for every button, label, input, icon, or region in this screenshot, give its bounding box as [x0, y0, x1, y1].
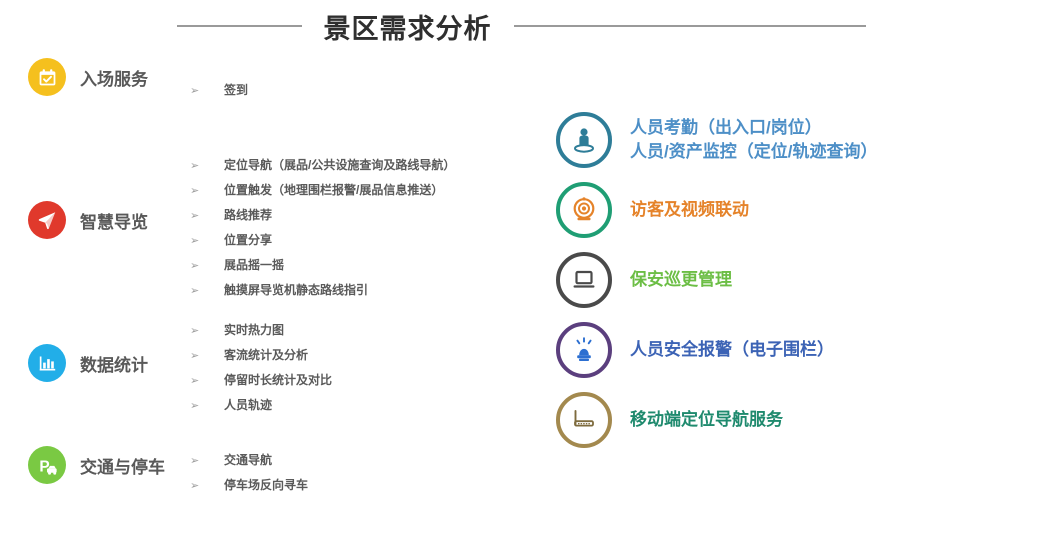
group-header[interactable]: 智慧导览: [28, 153, 190, 239]
group-traffic-parking: P 交通与停车 ➢ 交通导航 ➢ 停车场反向寻车: [28, 444, 538, 504]
page-title-row: 景区需求分析: [0, 8, 1042, 44]
group-data-statistics: 数据统计 ➢ 实时热力图 ➢ 客流统计及分析 ➢ 停留时长统计及对比 ➢ 人员轨…: [28, 318, 538, 422]
list-item-label: 触摸屏导览机静态路线指引: [224, 280, 368, 301]
list-item-label: 展品摇一摇: [224, 255, 284, 276]
feature-label: 保安巡更管理: [630, 268, 732, 292]
title-rule-left: [177, 25, 302, 27]
list-item-label: 实时热力图: [224, 320, 284, 341]
group-header[interactable]: P 交通与停车: [28, 444, 190, 484]
list-item[interactable]: ➢ 交通导航: [190, 450, 538, 472]
list-item[interactable]: ➢ 停留时长统计及对比: [190, 370, 538, 392]
feature-visitor-video[interactable]: 访客及视频联动: [556, 182, 1042, 238]
list-item[interactable]: ➢ 展品摇一摇: [190, 255, 538, 277]
group-items: ➢ 交通导航 ➢ 停车场反向寻车: [190, 444, 538, 500]
list-item[interactable]: ➢ 停车场反向寻车: [190, 475, 538, 497]
feature-label-line1: 移动端定位导航服务: [630, 410, 783, 429]
list-item[interactable]: ➢ 人员轨迹: [190, 395, 538, 417]
group-header[interactable]: 入场服务: [28, 58, 190, 96]
monitor-icon: [556, 252, 612, 308]
video-camera-icon: [556, 182, 612, 238]
group-label: 交通与停车: [80, 453, 165, 478]
list-item-label: 位置分享: [224, 230, 272, 251]
list-item[interactable]: ➢ 客流统计及分析: [190, 345, 538, 367]
group-items: ➢ 实时热力图 ➢ 客流统计及分析 ➢ 停留时长统计及对比 ➢ 人员轨迹: [190, 318, 538, 420]
page-title: 景区需求分析: [324, 7, 492, 46]
arrow-bullet-icon: ➢: [190, 231, 224, 252]
arrow-bullet-icon: ➢: [190, 451, 224, 472]
list-item-label: 交通导航: [224, 450, 272, 471]
feature-label-line2: 人员/资产监控（定位/轨迹查询）: [630, 140, 877, 164]
feature-label: 移动端定位导航服务: [630, 408, 783, 432]
feature-label: 人员考勤（出入口/岗位） 人员/资产监控（定位/轨迹查询）: [630, 116, 877, 164]
list-item[interactable]: ➢ 签到: [190, 80, 538, 102]
list-item[interactable]: ➢ 触摸屏导览机静态路线指引: [190, 280, 538, 302]
feature-safety-alarm[interactable]: 人员安全报警（电子围栏）: [556, 322, 1042, 378]
right-column: 人员考勤（出入口/岗位） 人员/资产监控（定位/轨迹查询） 访客及视频联动: [556, 112, 1042, 448]
feature-label-line1: 保安巡更管理: [630, 270, 732, 289]
alarm-siren-icon: [556, 322, 612, 378]
navigation-arrow-icon: [28, 201, 66, 239]
arrow-bullet-icon: ➢: [190, 321, 224, 342]
parking-car-icon: P: [28, 446, 66, 484]
feature-label: 访客及视频联动: [630, 198, 749, 222]
feature-label-line1: 人员考勤（出入口/岗位）: [630, 118, 822, 137]
bar-chart-icon: [28, 344, 66, 382]
group-label: 数据统计: [80, 351, 148, 376]
feature-personnel-attendance[interactable]: 人员考勤（出入口/岗位） 人员/资产监控（定位/轨迹查询）: [556, 112, 1042, 168]
list-item[interactable]: ➢ 位置分享: [190, 230, 538, 252]
feature-label-line1: 人员安全报警（电子围栏）: [630, 340, 834, 359]
left-column: 入场服务 ➢ 签到 智慧导览 ➢ 定位导航（展品/公共设施查询及路线导航）: [28, 58, 538, 504]
list-item-label: 签到: [224, 80, 248, 101]
list-item[interactable]: ➢ 定位导航（展品/公共设施查询及路线导航）: [190, 155, 538, 177]
list-item[interactable]: ➢ 路线推荐: [190, 205, 538, 227]
arrow-bullet-icon: ➢: [190, 346, 224, 367]
title-rule-right: [514, 25, 866, 27]
list-item-label: 停车场反向寻车: [224, 475, 308, 496]
group-header[interactable]: 数据统计: [28, 318, 190, 382]
calendar-check-icon: [28, 58, 66, 96]
person-location-icon: [556, 112, 612, 168]
list-item-label: 位置触发（地理围栏报警/展品信息推送）: [224, 180, 443, 201]
arrow-bullet-icon: ➢: [190, 281, 224, 302]
feature-label: 人员安全报警（电子围栏）: [630, 338, 834, 362]
group-items: ➢ 定位导航（展品/公共设施查询及路线导航） ➢ 位置触发（地理围栏报警/展品信…: [190, 153, 538, 305]
feature-security-patrol[interactable]: 保安巡更管理: [556, 252, 1042, 308]
arrow-bullet-icon: ➢: [190, 81, 224, 102]
list-item[interactable]: ➢ 位置触发（地理围栏报警/展品信息推送）: [190, 180, 538, 202]
arrow-bullet-icon: ➢: [190, 371, 224, 392]
feature-mobile-navigation[interactable]: 移动端定位导航服务: [556, 392, 1042, 448]
group-label: 智慧导览: [80, 208, 148, 233]
arrow-bullet-icon: ➢: [190, 181, 224, 202]
list-item[interactable]: ➢ 实时热力图: [190, 320, 538, 342]
list-item-label: 人员轨迹: [224, 395, 272, 416]
group-entry-service: 入场服务 ➢ 签到: [28, 58, 538, 153]
arrow-bullet-icon: ➢: [190, 476, 224, 497]
arrow-bullet-icon: ➢: [190, 256, 224, 277]
list-item-label: 定位导航（展品/公共设施查询及路线导航）: [224, 155, 455, 176]
feature-label-line1: 访客及视频联动: [630, 200, 749, 219]
list-item-label: 停留时长统计及对比: [224, 370, 332, 391]
arrow-bullet-icon: ➢: [190, 206, 224, 227]
group-items: ➢ 签到: [190, 58, 538, 105]
group-label: 入场服务: [80, 65, 148, 90]
router-device-icon: [556, 392, 612, 448]
group-smart-guide: 智慧导览 ➢ 定位导航（展品/公共设施查询及路线导航） ➢ 位置触发（地理围栏报…: [28, 153, 538, 283]
list-item-label: 路线推荐: [224, 205, 272, 226]
arrow-bullet-icon: ➢: [190, 156, 224, 177]
arrow-bullet-icon: ➢: [190, 396, 224, 417]
list-item-label: 客流统计及分析: [224, 345, 308, 366]
